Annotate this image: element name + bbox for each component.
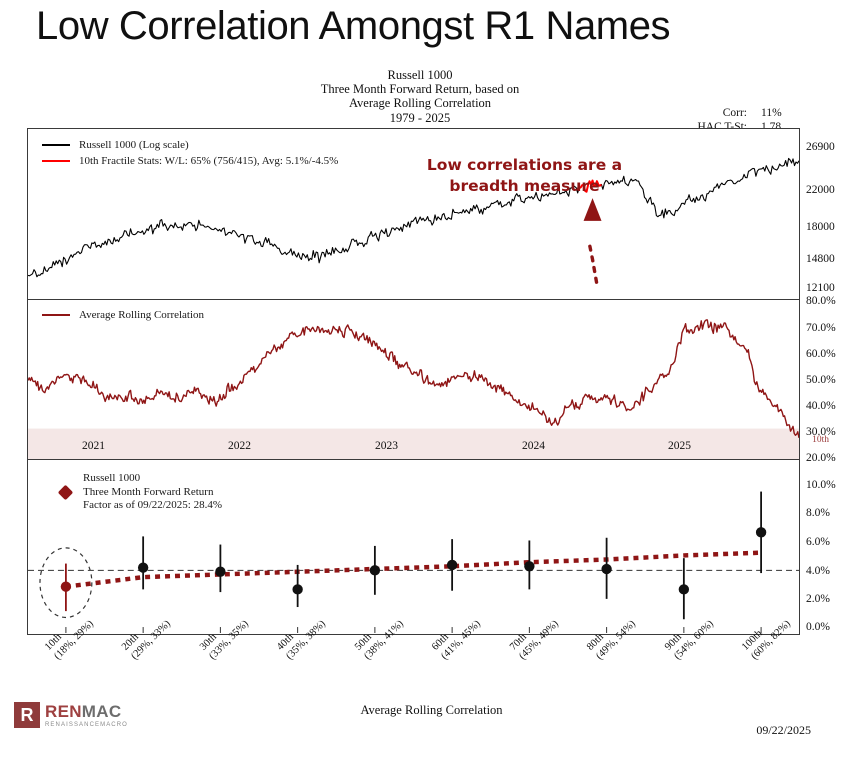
corr-ytick-50: 50.0% [806, 375, 836, 387]
data-point [138, 562, 148, 572]
data-point [679, 584, 689, 594]
corr-value: 11% [747, 106, 805, 120]
logo-mark-icon: R [14, 702, 40, 728]
price-legend: Russell 1000 (Log scale) 10th Fractile S… [42, 138, 338, 170]
footer-date: 09/22/2025 [756, 723, 811, 738]
price-ytick-26900: 26900 [806, 142, 835, 154]
corr-ytick-80: 80.0% [806, 296, 836, 308]
fractile-ytick-0: 0.0% [806, 622, 830, 634]
chart-header-line2: Three Month Forward Return, based on [180, 82, 660, 96]
price-ytick-18000: 18000 [806, 222, 835, 234]
corr-ytick-70: 70.0% [806, 323, 836, 335]
year-tick-2025: 2025 [668, 440, 691, 452]
legend-item-russell: Russell 1000 (Log scale) [42, 138, 338, 152]
corr-ytick-40: 40.0% [806, 401, 836, 413]
annotation-arrow [584, 198, 602, 282]
legend-label-fractile-stats: 10th Fractile Stats: W/L: 65% (756/415),… [79, 154, 338, 168]
fractile-legend-line2: Three Month Forward Return [83, 486, 222, 500]
data-point [215, 567, 225, 577]
logo-name-b: MAC [82, 702, 122, 721]
year-tick-2023: 2023 [375, 440, 398, 452]
corr-ytick-20: 20.0% [806, 453, 836, 465]
data-point [447, 560, 457, 570]
data-point [292, 584, 302, 594]
legend-item-avg-rolling-corr: Average Rolling Correlation [42, 308, 204, 322]
fractile-ytick-10: 10.0% [806, 480, 836, 492]
chart-header: Russell 1000 Three Month Forward Return,… [180, 68, 660, 125]
fractile-ytick-8: 8.0% [806, 508, 830, 520]
logo-tagline: RENAISSANCEMACRO [45, 722, 128, 728]
fractile-legend-line3: Factor as of 09/22/2025: 28.4% [83, 499, 222, 513]
corr-ytick-30: 30.0% [806, 427, 836, 439]
fractile-ytick-4: 4.0% [806, 566, 830, 578]
legend-swatch-fractile [42, 160, 70, 162]
logo-name: RENMAC [45, 703, 128, 720]
renmac-logo: R RENMAC RENAISSANCEMACRO [14, 702, 128, 728]
fractile-legend-line1: Russell 1000 [83, 472, 222, 486]
price-line-group [28, 158, 799, 276]
logo-name-a: REN [45, 702, 82, 721]
chart-header-line1: Russell 1000 [180, 68, 660, 82]
price-ytick-22000: 22000 [806, 185, 835, 197]
data-point [61, 581, 71, 591]
corr-ytick-60: 60.0% [806, 349, 836, 361]
year-tick-2024: 2024 [522, 440, 545, 452]
fractile-legend-text: Russell 1000 Three Month Forward Return … [83, 472, 222, 513]
data-point [601, 564, 611, 574]
corr-stat-row: Corr: 11% [605, 106, 805, 120]
corr-label: Corr: [655, 106, 747, 120]
legend-item-fractile-stats: 10th Fractile Stats: W/L: 65% (756/415),… [42, 154, 338, 168]
price-ytick-14800: 14800 [806, 254, 835, 266]
fractile-ytick-2: 2.0% [806, 594, 830, 606]
chart-header-line3: Average Rolling Correlation [180, 96, 660, 110]
fractile-markers [61, 492, 767, 633]
correlation-legend: Average Rolling Correlation [42, 308, 204, 324]
fractile-legend: Russell 1000 Three Month Forward Return … [60, 472, 222, 513]
year-tick-2022: 2022 [228, 440, 251, 452]
trend-line [66, 553, 761, 587]
annotation-text: Low correlations are a breadth measure [417, 155, 632, 197]
chart-header-line4: 1979 - 2025 [180, 111, 660, 125]
data-point [756, 527, 766, 537]
page-title: Low Correlation Amongst R1 Names [36, 4, 826, 56]
logo-wordmark: RENMAC RENAISSANCEMACRO [45, 703, 128, 728]
data-point [370, 565, 380, 575]
data-point [524, 561, 534, 571]
fractile-ytick-6: 6.0% [806, 537, 830, 549]
legend-swatch-russell [42, 144, 70, 146]
diamond-marker-icon [58, 484, 74, 500]
correlation-panel [27, 300, 800, 460]
price-ytick-12100: 12100 [806, 283, 835, 295]
legend-swatch-avg-rolling-corr [42, 314, 70, 316]
legend-label-russell: Russell 1000 (Log scale) [79, 138, 189, 152]
year-tick-2021: 2021 [82, 440, 105, 452]
legend-label-avg-rolling-corr: Average Rolling Correlation [79, 308, 204, 322]
xaxis-title: Average Rolling Correlation [0, 703, 863, 718]
